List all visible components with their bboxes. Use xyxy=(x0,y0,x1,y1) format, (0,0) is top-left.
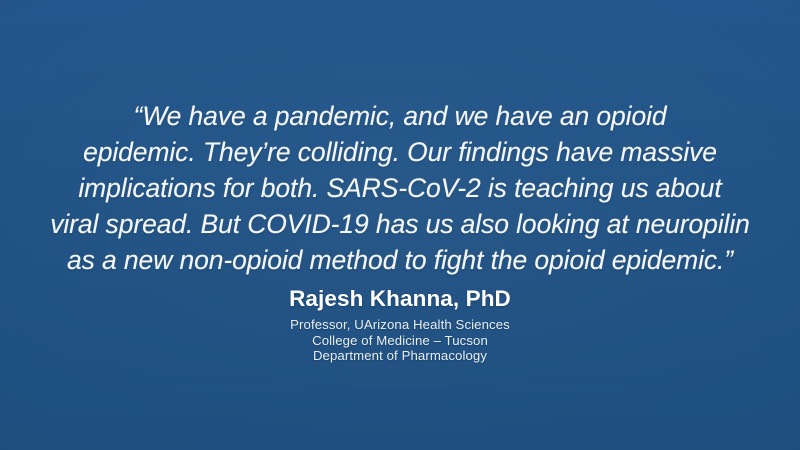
speaker-name: Rajesh Khanna, PhD xyxy=(100,285,700,313)
quote-line-1: “We have a pandemic, and we have an opio… xyxy=(50,98,750,134)
speaker-affiliation: Professor, UArizona Health Sciences Coll… xyxy=(100,317,700,364)
attribution-block: Rajesh Khanna, PhD Professor, UArizona H… xyxy=(100,285,700,364)
quote-slide: “We have a pandemic, and we have an opio… xyxy=(0,0,800,450)
quote-block: “We have a pandemic, and we have an opio… xyxy=(50,98,750,278)
affiliation-line-3: Department of Pharmacology xyxy=(100,348,700,364)
quote-line-4: viral spread. But COVID-19 has us also l… xyxy=(50,206,750,242)
affiliation-line-1: Professor, UArizona Health Sciences xyxy=(100,317,700,333)
quote-line-2: epidemic. They’re colliding. Our finding… xyxy=(50,134,750,170)
affiliation-line-2: College of Medicine – Tucson xyxy=(100,333,700,349)
quote-line-5: as a new non-opioid method to fight the … xyxy=(50,242,750,278)
quote-line-3: implications for both. SARS-CoV-2 is tea… xyxy=(50,170,750,206)
